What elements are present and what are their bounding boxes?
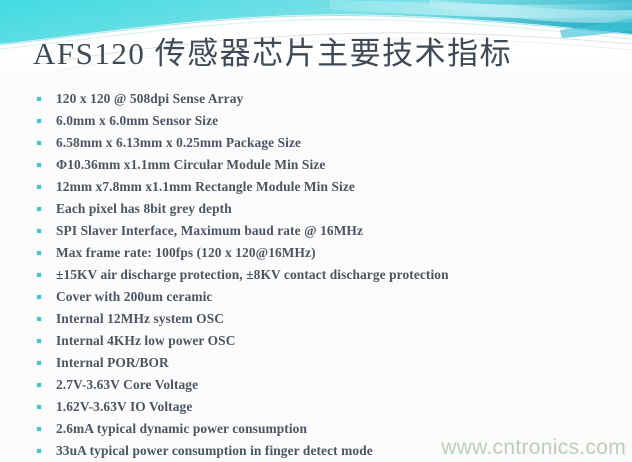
list-item-label: 6.0mm x 6.0mm Sensor Size	[56, 110, 218, 132]
page-title: AFS120 传感器芯片主要技术指标	[33, 36, 512, 72]
list-item-label: 12mm x7.8mm x1.1mm Rectangle Module Min …	[56, 176, 355, 198]
list-item-label: 2.6mA typical dynamic power consumption	[56, 418, 307, 440]
bullet-square-icon	[37, 361, 41, 365]
list-item: 2.7V-3.63V Core Voltage	[0, 374, 632, 396]
list-item-label: Internal 4KHz low power OSC	[56, 330, 236, 352]
bullet-square-icon	[37, 339, 41, 343]
list-item: SPI Slaver Interface, Maximum baud rate …	[0, 220, 632, 242]
list-item: Internal 12MHz system OSC	[0, 308, 632, 330]
bullet-square-icon	[37, 427, 41, 431]
bullet-square-icon	[37, 449, 41, 453]
bullet-square-icon	[37, 229, 41, 233]
list-item: Cover with 200um ceramic	[0, 286, 632, 308]
list-item-label: SPI Slaver Interface, Maximum baud rate …	[56, 220, 363, 242]
bullet-square-icon	[37, 317, 41, 321]
site-watermark: www.cntronics.com	[441, 436, 626, 460]
list-item-label: ±15KV air discharge protection, ±8KV con…	[56, 264, 449, 286]
list-item-label: Cover with 200um ceramic	[56, 286, 212, 308]
bullet-square-icon	[37, 163, 41, 167]
list-item-label: Each pixel has 8bit grey depth	[56, 198, 232, 220]
list-item: 6.58mm x 6.13mm x 0.25mm Package Size	[0, 132, 632, 154]
list-item: ±15KV air discharge protection, ±8KV con…	[0, 264, 632, 286]
list-item-label: 1.62V-3.63V IO Voltage	[56, 396, 192, 418]
bullet-square-icon	[37, 119, 41, 123]
bullet-square-icon	[37, 141, 41, 145]
list-item-label: Max frame rate: 100fps (120 x 120@16MHz)	[56, 242, 316, 264]
list-item-label: 33uA typical power consumption in finger…	[56, 440, 373, 462]
list-item: Each pixel has 8bit grey depth	[0, 198, 632, 220]
list-item-label: 2.7V-3.63V Core Voltage	[56, 374, 198, 396]
list-item-label: 120 x 120 @ 508dpi Sense Array	[56, 88, 243, 110]
bullet-square-icon	[37, 97, 41, 101]
bullet-square-icon	[37, 207, 41, 211]
list-item-label: Internal POR/BOR	[56, 352, 169, 374]
list-item-label: Φ10.36mm x1.1mm Circular Module Min Size	[56, 154, 325, 176]
list-item: 12mm x7.8mm x1.1mm Rectangle Module Min …	[0, 176, 632, 198]
slide-canvas: AFS120 传感器芯片主要技术指标 120 x 120 @ 508dpi Se…	[0, 0, 632, 462]
list-item: Max frame rate: 100fps (120 x 120@16MHz)	[0, 242, 632, 264]
bullet-square-icon	[37, 295, 41, 299]
bullet-square-icon	[37, 273, 41, 277]
list-item: 1.62V-3.63V IO Voltage	[0, 396, 632, 418]
list-item: 6.0mm x 6.0mm Sensor Size	[0, 110, 632, 132]
list-item-label: 6.58mm x 6.13mm x 0.25mm Package Size	[56, 132, 301, 154]
bullet-square-icon	[37, 405, 41, 409]
spec-bullet-list: 120 x 120 @ 508dpi Sense Array 6.0mm x 6…	[0, 88, 632, 462]
bullet-square-icon	[37, 185, 41, 189]
list-item: Φ10.36mm x1.1mm Circular Module Min Size	[0, 154, 632, 176]
list-item: 120 x 120 @ 508dpi Sense Array	[0, 88, 632, 110]
bullet-square-icon	[37, 383, 41, 387]
bullet-square-icon	[37, 251, 41, 255]
list-item: Internal POR/BOR	[0, 352, 632, 374]
list-item-label: Internal 12MHz system OSC	[56, 308, 224, 330]
list-item: Internal 4KHz low power OSC	[0, 330, 632, 352]
